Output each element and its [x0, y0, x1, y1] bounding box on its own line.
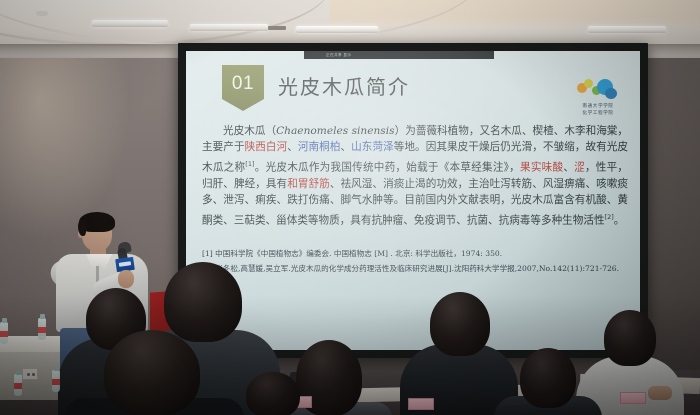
reference-item: [2] 张冬松,高慧媛,吴立军.光皮木瓜的化学成分药理活性及临床研究进展[J].… [202, 262, 630, 276]
highlight-origin-shandong: 山东菏泽 [351, 141, 394, 153]
ceiling-vent-icon [268, 26, 286, 30]
highlight-origin-shaanxi: 陕西白河 [245, 141, 288, 153]
logo-emblem-icon [575, 77, 621, 101]
slide-title: 光皮木瓜简介 [278, 71, 410, 100]
body-seg: 、 [563, 161, 574, 173]
section-number-text: 01 [232, 73, 254, 95]
water-bottle [14, 374, 22, 396]
audience-member-head [430, 292, 490, 356]
citation-marker-2: [2] [605, 213, 614, 221]
ceiling-fixture-icon [36, 11, 48, 16]
logo-line-1: 南通大学学院 [566, 103, 630, 110]
presentation-slide: 正在共享 显示 01 光皮木瓜简介 南通大学学院 化学工程学院 光皮木瓜（Cha… [186, 51, 640, 350]
projection-screen-frame: 正在共享 显示 01 光皮木瓜简介 南通大学学院 化学工程学院 光皮木瓜（Cha… [178, 43, 648, 358]
water-bottle [38, 318, 46, 340]
right-wall [648, 40, 700, 380]
ceiling-light-strip [588, 26, 666, 33]
audience-member-head [246, 372, 300, 415]
name-placard [408, 398, 434, 410]
body-seg: 、 [340, 141, 351, 153]
water-bottle [52, 370, 60, 392]
reference-item: [1] 中国科学院《中国植物志》编委会. 中国植物志 [M] . 北京: 科学出… [202, 247, 630, 261]
audience-member-head [104, 330, 200, 415]
species-name: Chaenomeles sinensis [276, 125, 395, 137]
ceiling-light-strip [92, 20, 168, 27]
screen-share-label: 正在共享 显示 [326, 51, 351, 59]
ceiling-light-strip [296, 26, 378, 33]
name-placard [620, 392, 646, 404]
highlight-effect: 和胃舒筋 [287, 178, 330, 190]
wall-light-glow [0, 40, 130, 240]
ceiling-light-strip [190, 24, 268, 31]
lecture-hall-scene: 正在共享 显示 01 光皮木瓜简介 南通大学学院 化学工程学院 光皮木瓜（Cha… [0, 0, 700, 415]
section-number-banner: 01 [222, 65, 264, 111]
highlight-taste-astringent: 涩 [574, 161, 585, 173]
body-seg: 、 [287, 141, 298, 153]
slide-references: [1] 中国科学院《中国植物志》编委会. 中国植物志 [M] . 北京: 科学出… [202, 247, 630, 276]
citation-marker-1: [1] [245, 160, 254, 168]
logo-line-2: 化学工程学院 [566, 110, 630, 117]
slide-body-text: 光皮木瓜（Chaenomeles sinensis）为蔷薇科植物，又名木瓜、楔楂… [202, 123, 628, 229]
body-seg: 。光皮木瓜作为我国传统中药，始载于《本草经集注》， [255, 161, 521, 173]
body-seg: 光皮木瓜（ [223, 125, 276, 137]
audience-member-head [604, 310, 656, 366]
water-bottle [0, 322, 8, 344]
audience-member-head [520, 348, 576, 408]
highlight-origin-henan: 河南桐柏 [298, 141, 341, 153]
presenter-hair-side [78, 220, 86, 236]
audience-member-head [164, 262, 242, 342]
university-logo: 南通大学学院 化学工程学院 [566, 77, 630, 123]
highlight-taste-sour: 果实味酸 [520, 161, 563, 173]
audience-hand [648, 386, 672, 400]
body-seg: 。 [614, 214, 625, 226]
presenter-hand [118, 270, 134, 288]
slide-paragraph: 光皮木瓜（Chaenomeles sinensis）为蔷薇科植物，又名木瓜、楔楂… [202, 123, 628, 229]
